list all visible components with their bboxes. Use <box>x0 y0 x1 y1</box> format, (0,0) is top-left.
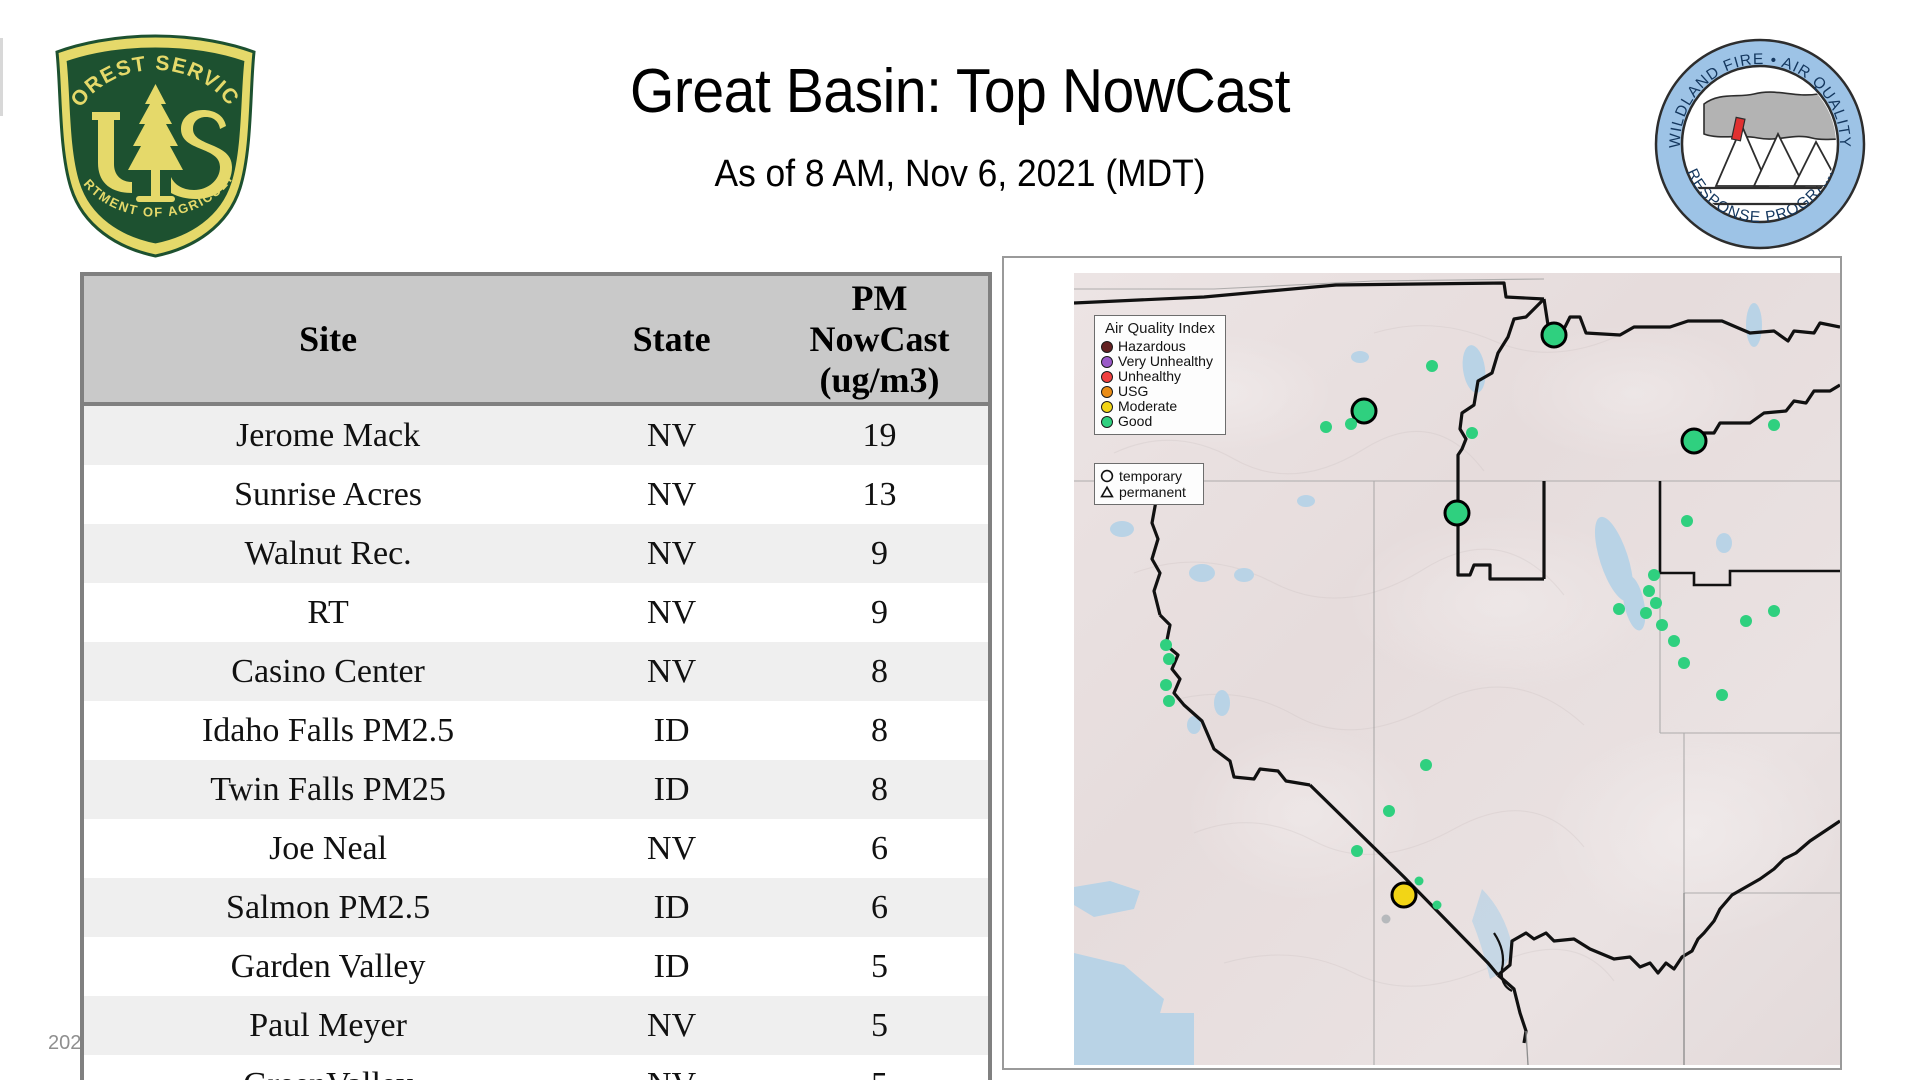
air-quality-index-legend: Air Quality Index HazardousVery Unhealth… <box>1094 315 1226 435</box>
aqi-legend-item: USG <box>1101 384 1219 399</box>
circle-outline-icon <box>1100 469 1114 483</box>
monitor-marker-lv-neighbor-2[interactable] <box>1415 877 1424 886</box>
monitor-marker-nevada-sierra-4[interactable] <box>1163 695 1175 707</box>
site-type-temporary: temporary <box>1100 468 1198 484</box>
aqi-legend-swatch-icon <box>1101 386 1113 398</box>
monitor-marker-utah-wasatch-1[interactable] <box>1648 569 1660 581</box>
cell-state: ID <box>572 760 771 819</box>
forest-service-shield-icon: FOREST SERVICE DEPARTMENT OF AGRICULTURE <box>48 30 263 260</box>
page-title: Great Basin: Top NowCast <box>353 56 1567 128</box>
monitor-marker-salmon[interactable] <box>1541 322 1568 349</box>
cell-state: NV <box>572 819 771 878</box>
column-header-state: State <box>572 276 771 404</box>
monitor-marker-utah-wasatch-5[interactable] <box>1613 603 1625 615</box>
map-panel: Air Quality Index HazardousVery Unhealth… <box>1002 256 1842 1070</box>
site-type-legend: temporary permanent <box>1094 463 1204 505</box>
monitor-marker-utah-wasatch-3[interactable] <box>1650 597 1662 609</box>
aqi-legend-label: Very Unhealthy <box>1118 354 1213 369</box>
monitor-marker-idaho-mid-1[interactable] <box>1466 427 1478 439</box>
monitor-marker-utah-south-1[interactable] <box>1716 689 1728 701</box>
table-body: Jerome MackNV19Sunrise AcresNV13Walnut R… <box>84 404 988 1080</box>
cell-pm-nowcast: 5 <box>771 996 988 1055</box>
table-row: Joe NealNV6 <box>84 819 988 878</box>
monitor-marker-nevada-sierra-3[interactable] <box>1160 679 1172 691</box>
aqi-legend-swatch-icon <box>1101 416 1113 428</box>
cell-site: Salmon PM2.5 <box>84 878 572 937</box>
aqi-legend-label: USG <box>1118 384 1148 399</box>
table-row: Idaho Falls PM2.5ID8 <box>84 701 988 760</box>
cell-site: Idaho Falls PM2.5 <box>84 701 572 760</box>
aqi-legend-item: Moderate <box>1101 399 1219 414</box>
cell-site-text: Twin Falls PM25 <box>210 771 446 808</box>
cell-pm-nowcast: 19 <box>771 404 988 465</box>
table-row: Salmon PM2.5ID6 <box>84 878 988 937</box>
aqi-legend-swatch-icon <box>1101 401 1113 413</box>
cell-state: NV <box>572 404 771 465</box>
monitor-marker-idaho-sw-2[interactable] <box>1345 418 1357 430</box>
aqi-legend-swatch-icon <box>1101 356 1113 368</box>
table-row: Sunrise AcresNV13 <box>84 465 988 524</box>
cell-pm-nowcast: 8 <box>771 642 988 701</box>
table-row: Garden ValleyID5 <box>84 937 988 996</box>
cell-pm-nowcast: 6 <box>771 878 988 937</box>
monitor-marker-utah-mid-1[interactable] <box>1678 657 1690 669</box>
monitor-marker-nevada-south-1[interactable] <box>1420 759 1432 771</box>
monitor-marker-utah-north-1[interactable] <box>1681 515 1693 527</box>
monitor-marker-lv-grey-1[interactable] <box>1382 915 1391 924</box>
aqi-legend-swatch-icon <box>1101 371 1113 383</box>
monitor-marker-idaho-falls[interactable] <box>1681 428 1708 455</box>
cell-state: NV <box>572 996 771 1055</box>
slide-left-edge-mark <box>0 38 3 116</box>
cell-site-text: Jerome Mack <box>236 417 420 454</box>
cell-pm-nowcast: 9 <box>771 583 988 642</box>
cell-state: NV <box>572 583 771 642</box>
monitor-marker-idaho-north-1[interactable] <box>1426 360 1438 372</box>
column-header-pm-line3: (ug/m3) <box>771 360 988 401</box>
cell-state: NV <box>572 465 771 524</box>
cell-state: NV <box>572 1055 771 1080</box>
cell-pm-nowcast: 5 <box>771 1055 988 1080</box>
cell-site-text: Salmon PM2.5 <box>226 889 430 926</box>
aqi-legend-rows: HazardousVery UnhealthyUnhealthyUSGModer… <box>1101 339 1219 429</box>
cell-site: Sunrise Acres <box>84 465 572 524</box>
monitor-marker-utah-wasatch-2[interactable] <box>1643 585 1655 597</box>
aqi-legend-item: Hazardous <box>1101 339 1219 354</box>
cell-state: NV <box>572 524 771 583</box>
cell-site: Paul Meyer <box>84 996 572 1055</box>
monitor-marker-nevada-south-2[interactable] <box>1383 805 1395 817</box>
monitor-marker-nevada-sierra-2[interactable] <box>1163 653 1175 665</box>
cell-site-text: Sunrise Acres <box>234 476 422 513</box>
column-header-pm-line1: PM <box>771 278 988 319</box>
cell-site: Garden Valley <box>84 937 572 996</box>
cell-site-text: Idaho Falls PM2.5 <box>202 712 454 749</box>
cell-site-text: RT <box>307 594 348 631</box>
cell-state: ID <box>572 878 771 937</box>
us-forest-service-logo: FOREST SERVICE DEPARTMENT OF AGRICULTURE <box>48 30 263 260</box>
monitor-marker-twin-falls[interactable] <box>1444 500 1471 527</box>
aqi-legend-swatch-icon <box>1101 341 1113 353</box>
aqi-legend-item: Very Unhealthy <box>1101 354 1219 369</box>
cell-site: RT <box>84 583 572 642</box>
footer-stamp: 202 <box>48 1032 81 1055</box>
monitor-marker-idaho-sw-1[interactable] <box>1320 421 1332 433</box>
table-row: GreenValleyNV5 <box>84 1055 988 1080</box>
monitor-marker-utah-east-1[interactable] <box>1768 605 1780 617</box>
great-basin-monitor-map[interactable]: Air Quality Index HazardousVery Unhealth… <box>1074 273 1840 1065</box>
cell-site-text: GreenValley <box>243 1066 413 1080</box>
cell-pm-nowcast: 6 <box>771 819 988 878</box>
table-row: Paul MeyerNV5 <box>84 996 988 1055</box>
aqi-legend-label: Moderate <box>1118 399 1177 414</box>
column-header-site: Site <box>84 276 572 404</box>
cell-site: Casino Center <box>84 642 572 701</box>
aqi-legend-item: Good <box>1101 414 1219 429</box>
aqi-legend-item: Unhealthy <box>1101 369 1219 384</box>
table-row: Casino CenterNV8 <box>84 642 988 701</box>
monitor-marker-lv-neighbor-1[interactable] <box>1433 901 1442 910</box>
cell-site: GreenValley <box>84 1055 572 1080</box>
site-type-permanent: permanent <box>1100 484 1198 500</box>
monitor-marker-nevada-sierra-1[interactable] <box>1160 639 1172 651</box>
wildland-fire-air-quality-response-program-logo: WILDLAND FIRE • AIR QUALITY RESPONSE PRO… <box>1654 38 1866 250</box>
slide-canvas: FOREST SERVICE DEPARTMENT OF AGRICULTURE <box>0 0 1920 1080</box>
monitor-marker-nevada-south-3[interactable] <box>1351 845 1363 857</box>
top-nowcast-table: Site State PM NowCast (ug/m3) Jerome Mac… <box>80 272 992 1080</box>
monitor-marker-utah-wasatch-6[interactable] <box>1656 619 1668 631</box>
cell-state: ID <box>572 937 771 996</box>
cell-site-text: Casino Center <box>231 653 425 690</box>
table-row: Twin Falls PM25ID8 <box>84 760 988 819</box>
site-type-permanent-label: permanent <box>1119 485 1186 500</box>
page-subtitle: As of 8 AM, Nov 6, 2021 (MDT) <box>346 150 1574 198</box>
monitor-marker-las-vegas-cluster[interactable] <box>1391 882 1418 909</box>
triangle-outline-icon <box>1100 485 1114 499</box>
monitor-marker-utah-west-1[interactable] <box>1668 635 1680 647</box>
cell-pm-nowcast: 13 <box>771 465 988 524</box>
cell-site-text: Paul Meyer <box>249 1007 407 1044</box>
aqi-legend-title: Air Quality Index <box>1101 320 1219 337</box>
column-header-pm-nowcast: PM NowCast (ug/m3) <box>771 276 988 404</box>
wfaqrp-seal-icon: WILDLAND FIRE • AIR QUALITY RESPONSE PRO… <box>1654 38 1866 250</box>
column-header-pm-line2: NowCast <box>771 319 988 360</box>
monitor-marker-idaho-east-1[interactable] <box>1768 419 1780 431</box>
site-type-temporary-label: temporary <box>1119 469 1182 484</box>
cell-pm-nowcast: 8 <box>771 760 988 819</box>
table-header-row: Site State PM NowCast (ug/m3) <box>84 276 988 404</box>
table-row: RTNV9 <box>84 583 988 642</box>
cell-site-text: Walnut Rec. <box>244 535 411 572</box>
cell-site: Walnut Rec. <box>84 524 572 583</box>
cell-site: Twin Falls PM25 <box>84 760 572 819</box>
cell-site-text: Garden Valley <box>231 948 426 985</box>
aqi-legend-label: Unhealthy <box>1118 369 1181 384</box>
monitor-marker-utah-east-2[interactable] <box>1740 615 1752 627</box>
aqi-legend-label: Good <box>1118 414 1152 429</box>
table-row: Walnut Rec.NV9 <box>84 524 988 583</box>
cell-site-text: Joe Neal <box>269 830 387 867</box>
cell-pm-nowcast: 8 <box>771 701 988 760</box>
cell-state: NV <box>572 642 771 701</box>
aqi-legend-label: Hazardous <box>1118 339 1186 354</box>
cell-site: Joe Neal <box>84 819 572 878</box>
cell-pm-nowcast: 9 <box>771 524 988 583</box>
cell-pm-nowcast: 5 <box>771 937 988 996</box>
monitor-marker-utah-wasatch-4[interactable] <box>1640 607 1652 619</box>
cell-site: Jerome Mack <box>84 404 572 465</box>
cell-state: ID <box>572 701 771 760</box>
table-row: Jerome MackNV19 <box>84 404 988 465</box>
